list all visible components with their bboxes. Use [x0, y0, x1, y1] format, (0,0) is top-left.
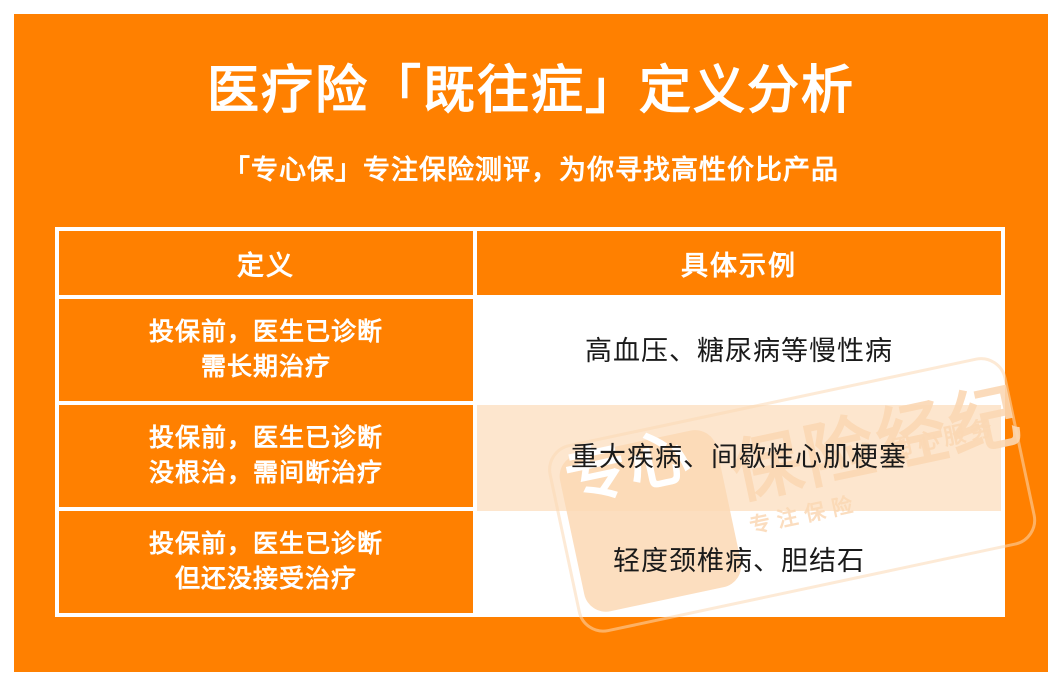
definition-line-2: 但还没接受治疗: [59, 562, 473, 598]
example-text-2: 重大疾病、间歇性心肌梗塞: [571, 442, 907, 472]
definition-line-1: 投保前，医生已诊断: [59, 421, 473, 457]
definition-table: 专心 保险经纪 专注保险 用心服务 定义 具体示例 投保前，医生: [55, 227, 1005, 598]
definition-line-1: 投保前，医生已诊断: [59, 315, 473, 351]
cell-definition-2: 投保前，医生已诊断 没根治，需间断治疗: [55, 405, 475, 511]
table-header-row: 定义 具体示例: [55, 227, 1005, 299]
definition-line-2: 需长期治疗: [59, 350, 473, 386]
example-text-3: 轻度颈椎病、胆结石: [613, 546, 865, 576]
cell-example-1: 高血压、糖尿病等慢性病: [475, 299, 1005, 405]
definition-line-2: 没根治，需间断治疗: [59, 456, 473, 492]
cell-definition-1: 投保前，医生已诊断 需长期治疗: [55, 299, 475, 405]
page-title: 医疗险「既往症」定义分析: [14, 62, 1048, 122]
cell-example-2: 重大疾病、间歇性心肌梗塞: [475, 405, 1005, 511]
cell-example-3: 轻度颈椎病、胆结石: [475, 511, 1005, 617]
cell-definition-3: 投保前，医生已诊断 但还没接受治疗: [55, 511, 475, 617]
example-text-1: 高血压、糖尿病等慢性病: [585, 336, 893, 366]
table-row: 投保前，医生已诊断 需长期治疗 高血压、糖尿病等慢性病: [55, 299, 1005, 405]
table-head: 定义 具体示例: [55, 227, 1005, 299]
page-subtitle: 「专心保」专注保险测评，为你寻找高性价比产品: [14, 154, 1048, 186]
definition-line-1: 投保前，医生已诊断: [59, 527, 473, 563]
column-header-example: 具体示例: [475, 227, 1005, 299]
poster-card: 医疗险「既往症」定义分析 「专心保」专注保险测评，为你寻找高性价比产品 专心 保…: [14, 14, 1048, 672]
table-grid: 定义 具体示例 投保前，医生已诊断 需长期治疗 高血压、糖尿病等慢性病: [55, 227, 1005, 617]
column-header-definition: 定义: [55, 227, 475, 299]
table-row: 投保前，医生已诊断 没根治，需间断治疗 重大疾病、间歇性心肌梗塞: [55, 405, 1005, 511]
table-row: 投保前，医生已诊断 但还没接受治疗 轻度颈椎病、胆结石: [55, 511, 1005, 617]
table-body: 投保前，医生已诊断 需长期治疗 高血压、糖尿病等慢性病 投保前，医生已诊断 没根…: [55, 299, 1005, 617]
